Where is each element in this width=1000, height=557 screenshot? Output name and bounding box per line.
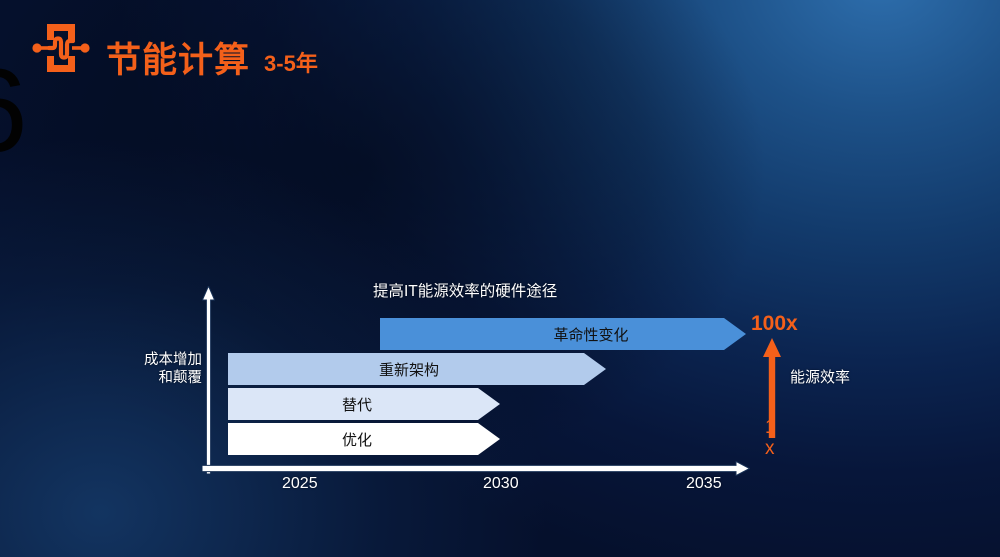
bar-optimization: 优化 (228, 423, 500, 455)
x-axis-arrow-icon (202, 461, 750, 476)
bar-label-optimization: 优化 (342, 429, 372, 450)
x-tick-2025: 2025 (282, 475, 318, 493)
hardware-pathway-chart: 提高IT能源效率的硬件途径 成本增加 和颠覆 革命性变化 (0, 178, 1000, 508)
efficiency-top-label: 100x (751, 312, 798, 336)
chart-title: 提高IT能源效率的硬件途径 (373, 279, 557, 301)
page-number: 6 (0, 52, 962, 170)
efficiency-bottom-label-line1: 1 (765, 418, 776, 439)
y-axis-label-line2: 和颠覆 (122, 369, 202, 387)
y-axis-label-line1: 成本增加 (122, 351, 202, 369)
slide-root: 节能计算 3-5年 6 提高IT能源效率的硬件途径 成本增加 和颠覆 (0, 0, 1000, 557)
bar-rearchitect: 重新架构 (228, 353, 606, 385)
x-tick-2030: 2030 (483, 475, 519, 493)
efficiency-bottom-label-line2: x (765, 439, 776, 460)
bar-substitution: 替代 (228, 388, 500, 420)
bar-label-rearchitect: 重新架构 (379, 359, 439, 380)
bar-label-substitution: 替代 (342, 394, 372, 415)
efficiency-side-label: 能源效率 (790, 366, 850, 387)
y-axis-arrow-icon (202, 286, 215, 474)
y-axis-label: 成本增加 和颠覆 (122, 351, 202, 387)
efficiency-bottom-label: 1 x (765, 418, 776, 460)
x-tick-2035: 2035 (686, 475, 722, 493)
bar-label-revolutionary-change: 革命性变化 (553, 324, 628, 345)
bar-revolutionary-change: 革命性变化 (380, 318, 746, 350)
